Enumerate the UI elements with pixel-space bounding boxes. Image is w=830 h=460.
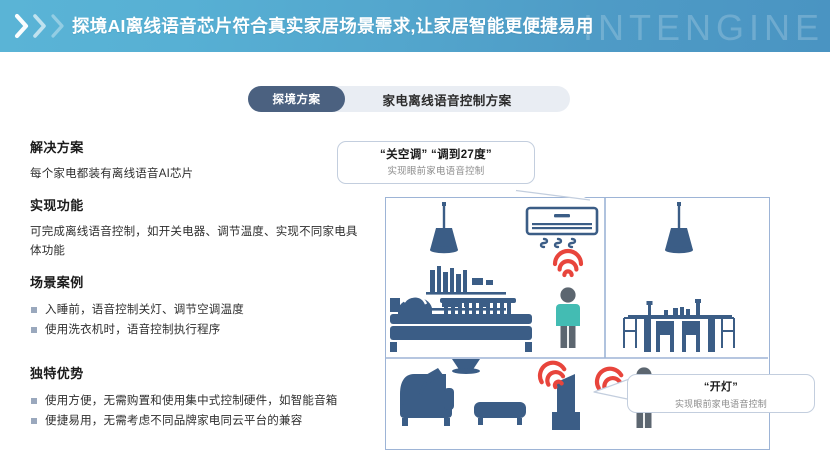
armchair: [400, 374, 454, 426]
section-heading: 解决方案: [30, 140, 360, 156]
content-column: 解决方案 每个家电都装有离线语音AI芯片 实现功能 可完成离线语音控制，如开关电…: [30, 140, 360, 445]
bed: [390, 296, 532, 352]
section-features: 实现功能 可完成离线语音控制，如开关电器、调节温度、实现不同家电具体功能: [30, 198, 360, 261]
list-item: 使用方便，无需购置和使用集中式控制硬件，如智能音箱: [30, 391, 360, 411]
chevron-right-icon: [32, 13, 49, 39]
section-body: 每个家电都装有离线语音AI芯片: [30, 165, 360, 184]
list-item-label: 使用方便，无需购置和使用集中式控制硬件，如智能音箱: [45, 395, 338, 407]
tab-solution-active[interactable]: 探境方案: [248, 86, 345, 112]
chevron-right-icon: [14, 13, 31, 39]
dining-table-set: [624, 299, 734, 352]
ottoman: [474, 402, 526, 425]
bullet-square-icon: [31, 327, 37, 333]
callout-command: “开灯”: [628, 375, 814, 395]
callout-subtitle: 实现眼前家电语音控制: [338, 163, 534, 179]
callout-subtitle: 实现眼前家电语音控制: [628, 395, 814, 411]
tab-bar: 探境方案 家电离线语音控制方案: [248, 86, 570, 112]
bedroom-pendant-lamp: [430, 202, 458, 253]
use-case-list: 入睡前，语音控制关灯、调节空调温度 使用洗衣机时，语音控制执行程序: [30, 300, 360, 340]
section-use-cases: 场景案例 入睡前，语音控制关灯、调节空调温度 使用洗衣机时，语音控制执行程序: [30, 275, 360, 340]
list-item-label: 便捷易用，无需考虑不同品牌家电同云平台的兼容: [45, 415, 302, 427]
section-advantages: 独特优势 使用方便，无需购置和使用集中式控制硬件，如智能音箱 便捷易用，无需考虑…: [30, 366, 360, 431]
air-conditioner-icon: [527, 208, 597, 247]
brand-watermark: INTENGINE: [583, 6, 824, 50]
list-item: 入睡前，语音控制关灯、调节空调温度: [30, 300, 360, 320]
dining-pendant-lamp: [665, 202, 693, 253]
living-pendant-lamp: [452, 359, 480, 374]
list-item: 便捷易用，无需考虑不同品牌家电同云平台的兼容: [30, 411, 360, 431]
page-title: 探境AI离线语音芯片符合真实家居场景需求,让家居智能更便捷易用: [72, 11, 594, 41]
callout-command: “关空调” “调到27度”: [338, 142, 534, 163]
chevron-group: [14, 13, 67, 39]
list-item: 使用洗衣机时，语音控制执行程序: [30, 320, 360, 340]
tab-section-title: 家电离线语音控制方案: [352, 86, 542, 112]
bullet-square-icon: [31, 307, 37, 313]
section-solution: 解决方案 每个家电都装有离线语音AI芯片: [30, 140, 360, 184]
section-heading: 实现功能: [30, 198, 360, 214]
bullet-square-icon: [31, 418, 37, 424]
list-item-label: 使用洗衣机时，语音控制执行程序: [45, 324, 221, 336]
person-bedroom: [556, 287, 580, 348]
list-item-label: 入睡前，语音控制关灯、调节空调温度: [45, 304, 244, 316]
wifi-signal-icon: [555, 251, 581, 275]
page-header: INTENGINE 探境AI离线语音芯片符合真实家居场景需求,让家居智能更便捷易…: [0, 0, 830, 52]
section-heading: 场景案例: [30, 275, 360, 291]
wifi-signal-icon: [592, 364, 627, 398]
chevron-right-icon: [50, 13, 67, 39]
bullet-square-icon: [31, 398, 37, 404]
callout-living-room: “开灯” 实现眼前家电语音控制: [627, 374, 815, 413]
callout-bedroom: “关空调” “调到27度” 实现眼前家电语音控制: [337, 141, 535, 184]
section-heading: 独特优势: [30, 366, 360, 382]
section-body: 可完成离线语音控制，如开关电器、调节温度、实现不同家电具体功能: [30, 223, 360, 261]
advantage-list: 使用方便，无需购置和使用集中式控制硬件，如智能音箱 便捷易用，无需考虑不同品牌家…: [30, 391, 360, 431]
